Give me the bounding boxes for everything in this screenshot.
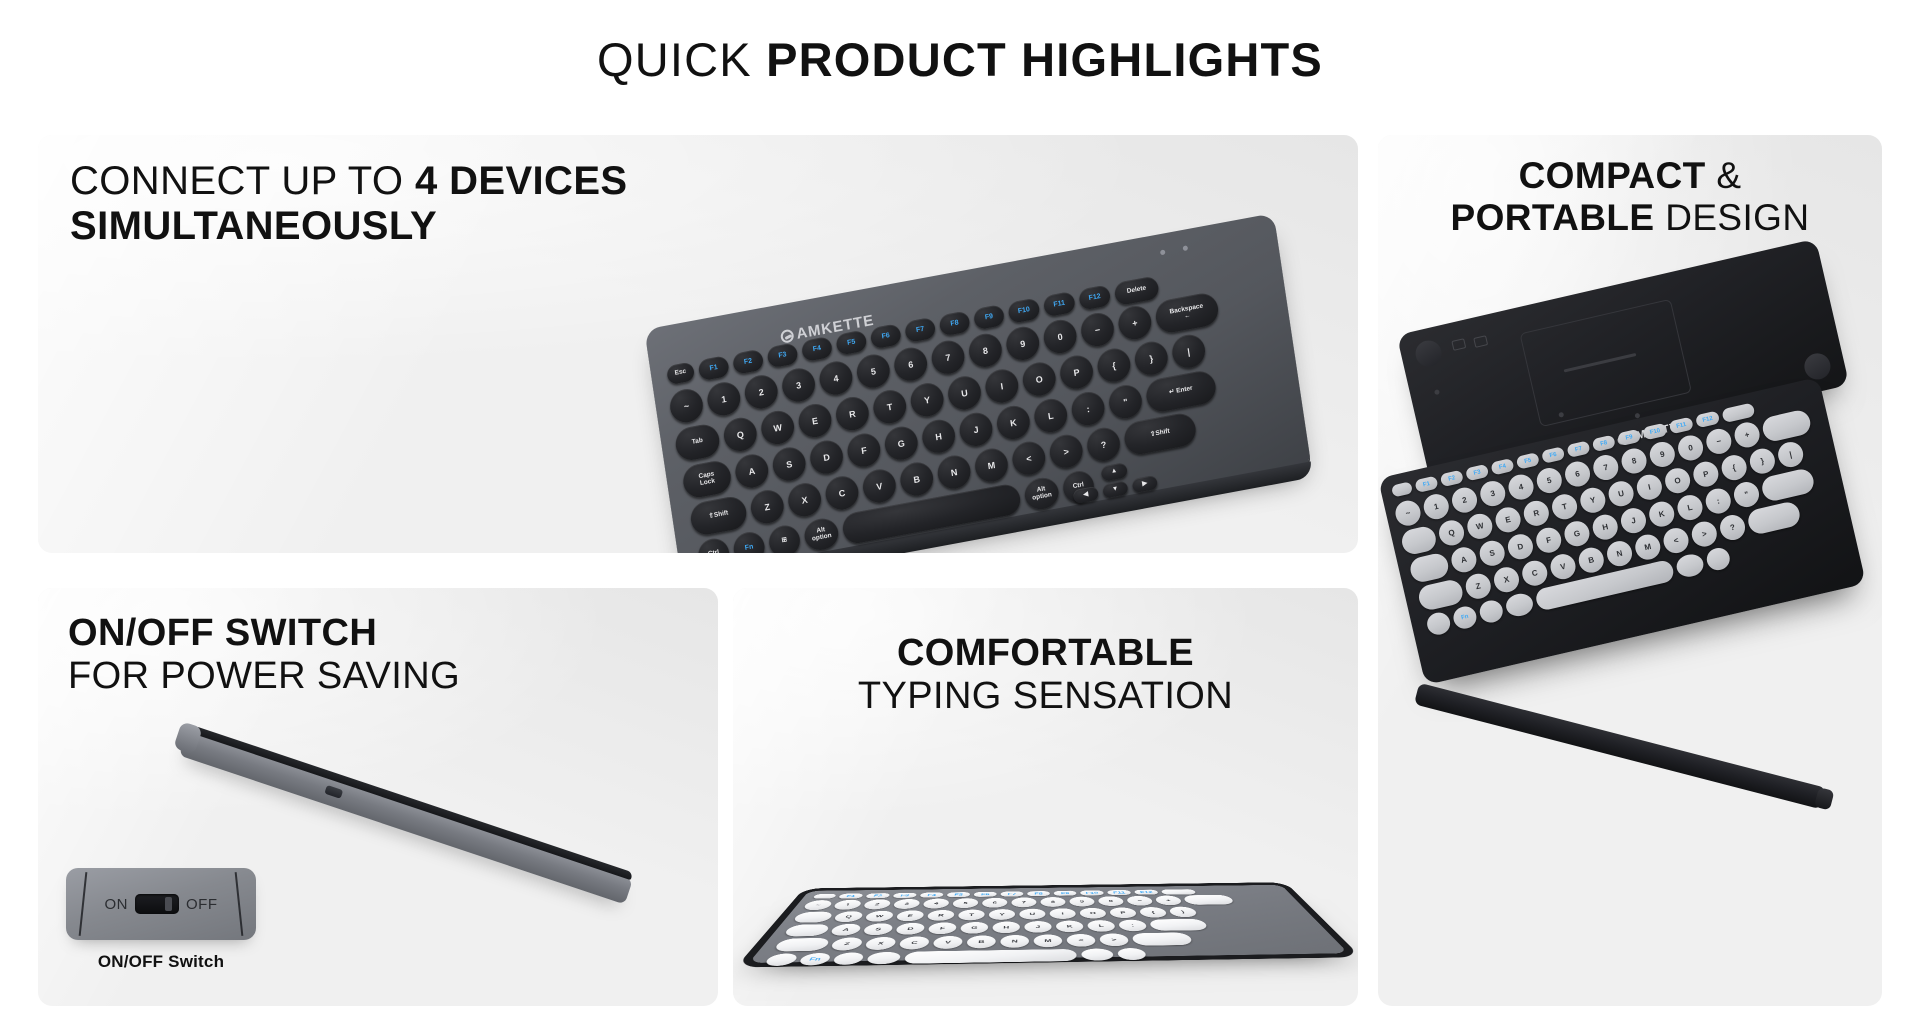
portable-heading-light: DESIGN: [1655, 197, 1810, 238]
card-onoff-switch: ON/OFF SWITCH FOR POWER SAVING ON OFF ON…: [38, 588, 718, 1006]
page-title-bold: PRODUCT HIGHLIGHTS: [766, 33, 1323, 86]
onoff-switch-graphic: ON OFF: [66, 868, 256, 940]
switch-heading-light: FOR POWER SAVING: [68, 655, 460, 698]
card-compact-portable: COMPACT & PORTABLE DESIGN AMKETTE: [1378, 135, 1882, 1006]
comfort-heading: COMFORTABLE TYPING SENSATION: [733, 632, 1358, 718]
comfort-heading-bold: COMFORTABLE: [733, 632, 1358, 675]
card-comfortable-typing: COMFORTABLE TYPING SENSATION F1 F2 F3 F4…: [733, 588, 1358, 1006]
switch-heading-bold: ON/OFF SWITCH: [68, 612, 460, 655]
compact-heading-light: &: [1706, 155, 1742, 196]
page-title-light: QUICK: [597, 33, 766, 86]
connect-heading: CONNECT UP TO 4 DEVICES SIMULTANEOUSLY: [70, 159, 730, 249]
compact-heading-bold: COMPACT: [1519, 155, 1706, 196]
keyboard-edge-image: [1414, 683, 1826, 809]
switch-on-label: ON: [105, 896, 129, 913]
page-title: QUICK PRODUCT HIGHLIGHTS: [0, 32, 1920, 87]
comfort-heading-light: TYPING SENSATION: [733, 675, 1358, 718]
connect-heading-line2: SIMULTANEOUSLY: [70, 204, 730, 249]
switch-heading: ON/OFF SWITCH FOR POWER SAVING: [68, 612, 460, 698]
switch-toggle-icon: [135, 894, 179, 914]
switch-callout: ON OFF ON/OFF Switch: [66, 868, 286, 972]
keyboard-side-profile-image: [183, 698, 663, 868]
amkette-logo-icon: [780, 329, 795, 344]
switch-off-label: OFF: [186, 896, 218, 913]
card-connect-devices: CONNECT UP TO 4 DEVICES SIMULTANEOUSLY: [38, 135, 1358, 553]
keyboard-white-angle-image: F1 F2 F3 F4 F5 F6 F7 F8 F9 F10 F11 F12 ~: [749, 885, 1349, 963]
keyboard-main-image: AMKETTE Esc F1 F2 F3 F4 F5 F6 F7 F8 F9: [658, 140, 1358, 550]
portable-heading-bold: PORTABLE: [1451, 197, 1655, 238]
compact-heading: COMPACT & PORTABLE DESIGN: [1378, 155, 1882, 239]
product-highlights-page: QUICK PRODUCT HIGHLIGHTS CONNECT UP TO 4…: [0, 0, 1920, 1036]
switch-caption: ON/OFF Switch: [66, 952, 256, 972]
connect-heading-light: CONNECT UP TO: [70, 159, 415, 203]
connect-heading-bold: 4 DEVICES: [415, 159, 628, 203]
